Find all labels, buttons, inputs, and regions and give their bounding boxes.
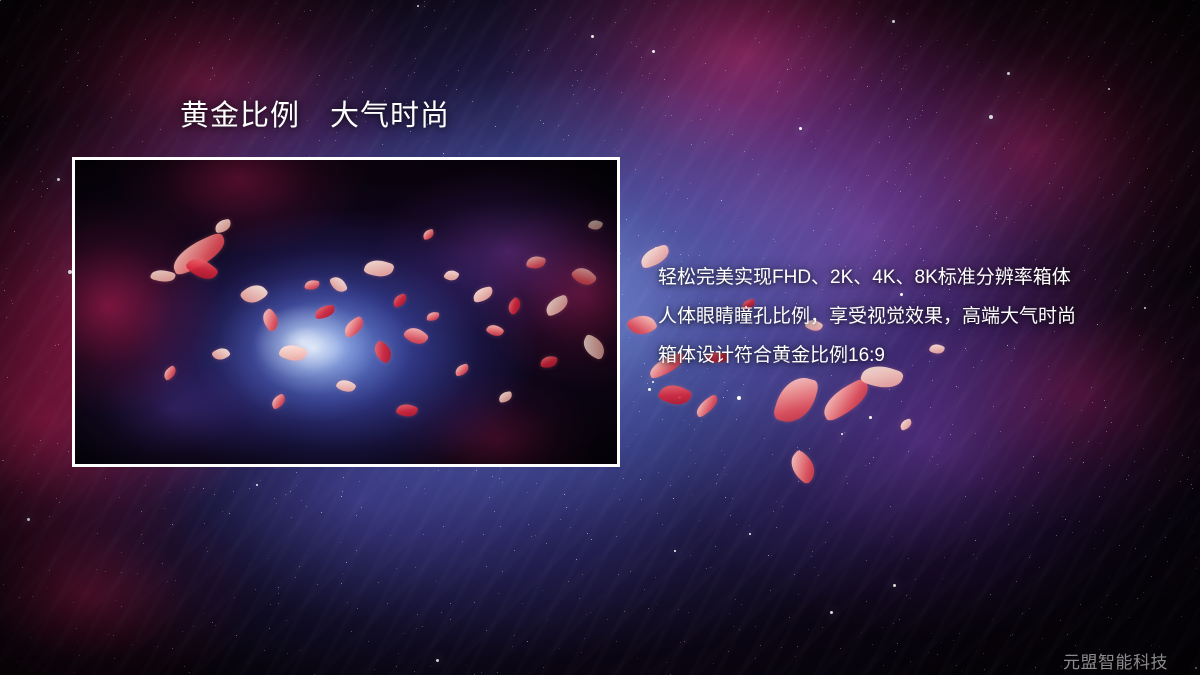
petal [211,345,231,364]
slide-title: 黄金比例 大气时尚 [180,101,450,133]
petal [443,268,460,284]
company-watermark: 元盟智能科技 [1063,648,1168,673]
petal [150,267,176,285]
petal [185,253,220,286]
petal [304,279,320,291]
petal [505,297,524,316]
photo-core-glow [75,160,617,464]
photo-petals-group [75,160,617,464]
petal [395,401,418,420]
body-line-3: 箱体设计符合黄金比例16:9 [658,336,1168,375]
petal [239,280,269,309]
petal [161,365,178,381]
petal [579,333,609,360]
petal [341,315,367,338]
petal [817,377,874,423]
framed-photo [72,157,620,467]
petal [363,256,395,281]
petal [329,274,348,295]
petal [427,311,440,321]
petal [570,263,598,291]
petal [392,293,409,308]
petal [485,321,504,339]
petal [168,231,231,277]
petal [314,305,335,320]
petal [402,323,429,349]
body-line-1: 轻松完美实现FHD、2K、4K、8K标准分辨率箱体 [658,258,1168,297]
petal [498,391,512,403]
petal [784,449,821,485]
petal [693,394,721,418]
body-line-2: 人体眼睛瞳孔比例，享受视觉效果，高端大气时尚 [658,297,1168,336]
petal [422,229,435,240]
petal [370,340,396,365]
petal [588,218,604,232]
petal [772,372,820,428]
body-copy-block: 轻松完美实现FHD、2K、4K、8K标准分辨率箱体 人体眼睛瞳孔比例，享受视觉效… [658,258,1168,375]
petal [335,376,357,395]
petal [454,363,470,376]
photo-nebula-crimson [75,160,617,464]
petal [269,393,287,410]
petal [540,355,558,369]
photo-nebula-violet [75,160,617,464]
petal [657,379,693,410]
petal [258,308,282,333]
petal [543,294,571,317]
petal [899,418,913,431]
petal [472,286,494,303]
photo-vignette [75,160,617,464]
presentation-slide: 黄金比例 大气时尚 轻松完美实现FHD、2K、4K、8K标准分辨率箱体 人体眼睛… [0,0,1200,675]
photo-image [75,160,617,464]
petal [278,341,308,366]
photo-nebula-base [75,160,617,464]
petal [626,310,658,340]
petal [214,219,232,234]
petal [526,254,547,271]
